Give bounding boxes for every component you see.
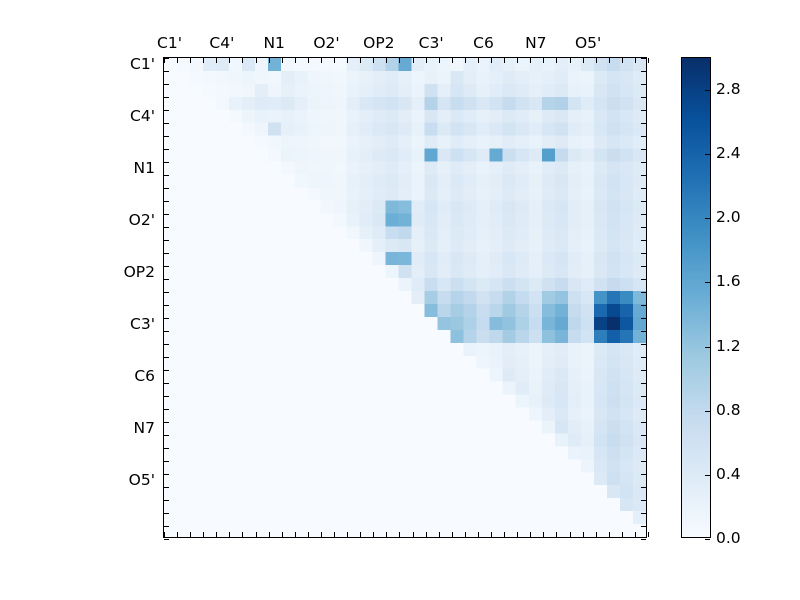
colorbar-tick — [705, 539, 710, 540]
y-tick-right — [641, 84, 646, 85]
x-tick-top — [229, 58, 230, 63]
colorbar-tick — [705, 411, 710, 412]
y-tick-right — [641, 461, 646, 462]
x-tick-top — [452, 58, 453, 63]
y-tick-left — [164, 331, 169, 332]
x-tick-top — [478, 58, 479, 63]
y-tick-right — [641, 58, 646, 59]
y-tick-label: C4' — [130, 107, 155, 125]
y-tick-right — [641, 383, 646, 384]
y-tick-left — [164, 357, 169, 358]
colorbar-tick-label: 0.4 — [716, 465, 741, 483]
y-tick-left — [164, 318, 169, 319]
y-axis-tick-labels: C1'C4'N1O2'OP2C3'C6N7O5' — [100, 0, 155, 600]
x-tick-top — [347, 58, 348, 63]
y-tick-left — [164, 201, 169, 202]
y-tick-label: N1 — [134, 159, 155, 177]
y-tick-left — [164, 448, 169, 449]
y-tick-right — [641, 214, 646, 215]
y-tick-left — [164, 500, 169, 501]
y-tick-left — [164, 461, 169, 462]
y-tick-left — [164, 487, 169, 488]
x-tick-bottom — [229, 532, 230, 537]
x-tick-top — [321, 58, 322, 63]
y-tick-left — [164, 71, 169, 72]
x-tick-top — [556, 58, 557, 63]
y-tick-right — [641, 123, 646, 124]
x-tick-top — [203, 58, 204, 63]
x-tick-bottom — [452, 532, 453, 537]
colorbar-tick-label: 2.4 — [716, 144, 741, 162]
y-tick-right — [641, 435, 646, 436]
x-tick-bottom — [609, 532, 610, 537]
y-tick-right — [641, 149, 646, 150]
x-tick-bottom — [465, 532, 466, 537]
y-tick-left — [164, 123, 169, 124]
x-tick-bottom — [164, 532, 165, 537]
x-tick-bottom — [216, 532, 217, 537]
y-tick-left — [164, 136, 169, 137]
x-tick-top — [596, 58, 597, 63]
x-tick-top — [242, 58, 243, 63]
x-tick-top — [308, 58, 309, 63]
y-tick-right — [641, 396, 646, 397]
x-tick-top — [334, 58, 335, 63]
y-tick-left — [164, 279, 169, 280]
y-tick-right — [641, 266, 646, 267]
heatmap-plot-area[interactable] — [163, 57, 647, 538]
x-tick-top — [622, 58, 623, 63]
x-tick-label: O2' — [313, 34, 339, 52]
x-tick-bottom — [556, 532, 557, 537]
x-tick-bottom — [596, 532, 597, 537]
y-tick-right — [641, 526, 646, 527]
y-tick-left — [164, 214, 169, 215]
x-tick-top — [504, 58, 505, 63]
y-tick-left — [164, 84, 169, 85]
colorbar-tick-label: 0.8 — [716, 401, 741, 419]
x-tick-top — [439, 58, 440, 63]
x-tick-bottom — [203, 532, 204, 537]
x-tick-top — [583, 58, 584, 63]
x-tick-bottom — [177, 532, 178, 537]
x-tick-top — [426, 58, 427, 63]
x-tick-top — [609, 58, 610, 63]
y-tick-label: OP2 — [124, 263, 155, 281]
x-tick-top — [413, 58, 414, 63]
y-tick-right — [641, 292, 646, 293]
x-tick-label: C3' — [419, 34, 444, 52]
x-tick-bottom — [543, 532, 544, 537]
x-tick-bottom — [504, 532, 505, 537]
x-tick-bottom — [426, 532, 427, 537]
y-tick-left — [164, 253, 169, 254]
y-tick-left — [164, 58, 169, 59]
colorbar-tick — [705, 282, 710, 283]
colorbar-tick-label: 0.0 — [716, 529, 741, 547]
y-tick-right — [641, 279, 646, 280]
x-tick-bottom — [570, 532, 571, 537]
x-tick-top — [399, 58, 400, 63]
x-tick-bottom — [269, 532, 270, 537]
y-tick-left — [164, 409, 169, 410]
colorbar-tick — [705, 90, 710, 91]
x-tick-bottom — [321, 532, 322, 537]
y-tick-right — [641, 370, 646, 371]
y-tick-left — [164, 539, 169, 540]
colorbar-tick — [705, 475, 710, 476]
y-tick-label: C3' — [130, 315, 155, 333]
x-tick-bottom — [347, 532, 348, 537]
figure-canvas: C1'C4'N1O2'OP2C3'C6N7O5' C1'C4'N1O2'OP2C… — [0, 0, 800, 600]
y-tick-left — [164, 305, 169, 306]
y-tick-right — [641, 253, 646, 254]
x-tick-bottom — [386, 532, 387, 537]
x-tick-label: N1 — [263, 34, 284, 52]
x-tick-top — [360, 58, 361, 63]
x-tick-top — [373, 58, 374, 63]
x-tick-top — [386, 58, 387, 63]
x-tick-top — [465, 58, 466, 63]
x-tick-label: C6 — [473, 34, 494, 52]
x-tick-top — [177, 58, 178, 63]
colorbar-tick-label: 1.2 — [716, 337, 741, 355]
y-tick-left — [164, 370, 169, 371]
x-tick-top — [269, 58, 270, 63]
colorbar-tick — [705, 347, 710, 348]
colorbar-tick-label: 2.0 — [716, 208, 741, 226]
y-tick-left — [164, 110, 169, 111]
y-tick-right — [641, 487, 646, 488]
colorbar-tick — [705, 218, 710, 219]
x-tick-bottom — [491, 532, 492, 537]
y-tick-right — [641, 357, 646, 358]
x-tick-bottom — [478, 532, 479, 537]
x-tick-top — [517, 58, 518, 63]
y-tick-label: C6 — [134, 367, 155, 385]
y-tick-right — [641, 71, 646, 72]
y-tick-right — [641, 175, 646, 176]
y-tick-left — [164, 188, 169, 189]
x-tick-bottom — [295, 532, 296, 537]
y-tick-left — [164, 175, 169, 176]
x-tick-bottom — [648, 532, 649, 537]
colorbar-tick-label: 2.8 — [716, 80, 741, 98]
y-tick-left — [164, 162, 169, 163]
y-tick-left — [164, 435, 169, 436]
y-tick-label: C1' — [130, 55, 155, 73]
colorbar[interactable] — [681, 57, 711, 538]
x-tick-top — [570, 58, 571, 63]
x-tick-bottom — [635, 532, 636, 537]
y-tick-right — [641, 318, 646, 319]
x-tick-bottom — [517, 532, 518, 537]
y-tick-left — [164, 474, 169, 475]
y-tick-right — [641, 305, 646, 306]
y-tick-right — [641, 539, 646, 540]
heatmap-image — [164, 58, 646, 537]
x-tick-bottom — [439, 532, 440, 537]
colorbar-tick-label: 1.6 — [716, 272, 741, 290]
x-tick-label: O5' — [575, 34, 601, 52]
y-tick-left — [164, 344, 169, 345]
x-tick-bottom — [399, 532, 400, 537]
x-tick-bottom — [413, 532, 414, 537]
x-tick-bottom — [334, 532, 335, 537]
y-tick-left — [164, 396, 169, 397]
y-tick-right — [641, 227, 646, 228]
x-tick-top — [295, 58, 296, 63]
y-tick-right — [641, 162, 646, 163]
x-tick-bottom — [282, 532, 283, 537]
x-tick-bottom — [530, 532, 531, 537]
y-tick-right — [641, 474, 646, 475]
y-tick-right — [641, 500, 646, 501]
x-tick-top — [635, 58, 636, 63]
x-tick-bottom — [622, 532, 623, 537]
y-tick-right — [641, 513, 646, 514]
x-tick-top — [648, 58, 649, 63]
y-tick-left — [164, 240, 169, 241]
y-tick-label: O2' — [129, 211, 155, 229]
colorbar-gradient — [682, 58, 710, 537]
x-tick-bottom — [373, 532, 374, 537]
y-tick-left — [164, 383, 169, 384]
x-tick-top — [256, 58, 257, 63]
x-tick-top — [491, 58, 492, 63]
x-tick-label: C4' — [209, 34, 234, 52]
colorbar-tick — [705, 154, 710, 155]
x-tick-bottom — [242, 532, 243, 537]
y-tick-left — [164, 149, 169, 150]
x-tick-top — [543, 58, 544, 63]
y-tick-right — [641, 136, 646, 137]
y-tick-label: N7 — [134, 419, 155, 437]
y-tick-right — [641, 201, 646, 202]
y-tick-right — [641, 97, 646, 98]
y-tick-left — [164, 227, 169, 228]
x-tick-top — [282, 58, 283, 63]
y-tick-right — [641, 409, 646, 410]
y-tick-left — [164, 422, 169, 423]
x-tick-bottom — [190, 532, 191, 537]
y-tick-right — [641, 344, 646, 345]
y-tick-left — [164, 266, 169, 267]
y-tick-label: O5' — [129, 471, 155, 489]
y-tick-right — [641, 240, 646, 241]
y-tick-right — [641, 331, 646, 332]
x-tick-bottom — [583, 532, 584, 537]
y-tick-left — [164, 292, 169, 293]
y-tick-right — [641, 422, 646, 423]
x-tick-label: C1' — [157, 34, 182, 52]
x-tick-top — [190, 58, 191, 63]
y-tick-right — [641, 448, 646, 449]
y-tick-right — [641, 110, 646, 111]
y-tick-left — [164, 513, 169, 514]
y-tick-right — [641, 188, 646, 189]
y-tick-left — [164, 526, 169, 527]
x-tick-top — [530, 58, 531, 63]
x-tick-top — [216, 58, 217, 63]
x-tick-bottom — [256, 532, 257, 537]
x-tick-label: N7 — [525, 34, 546, 52]
y-tick-left — [164, 97, 169, 98]
x-tick-bottom — [308, 532, 309, 537]
x-tick-bottom — [360, 532, 361, 537]
x-tick-label: OP2 — [363, 34, 394, 52]
